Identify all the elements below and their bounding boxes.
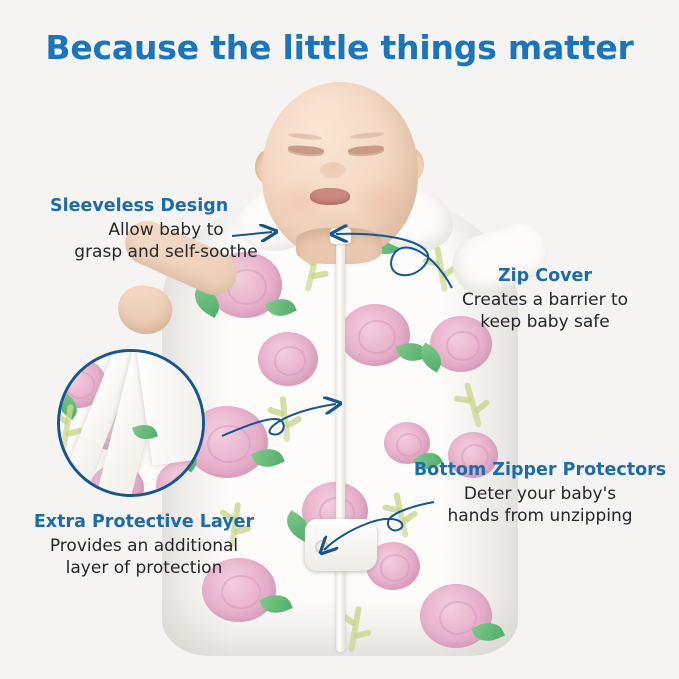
rose-motif	[258, 332, 318, 386]
annotation-bottom-zipper-line2: hands from unzipping	[404, 506, 676, 526]
annotation-bottom-zipper-line1: Deter your baby's	[404, 484, 676, 504]
annotation-bottom-zipper-heading: Bottom Zipper Protectors	[404, 460, 676, 482]
baby-nose	[320, 162, 346, 178]
annotation-extra-layer-line2: layer of protection	[18, 558, 270, 578]
bottom-zipper-protector	[305, 519, 377, 571]
annotation-zip-cover-heading: Zip Cover	[420, 266, 670, 288]
annotation-sleeveless-heading: Sleeveless Design	[50, 196, 286, 218]
sprig-motif	[280, 396, 291, 442]
annotation-extra-layer-line1: Provides an additional	[18, 536, 270, 556]
annotation-zip-cover: Zip Cover Creates a barrier to keep baby…	[420, 266, 670, 332]
zip-cover-tab	[330, 228, 351, 244]
annotation-extra-protective-layer: Extra Protective Layer Provides an addit…	[18, 512, 270, 578]
fabric-fold	[136, 349, 205, 466]
extra-protective-layer-inset	[57, 349, 205, 497]
annotation-sleeveless-line1: Allow baby to	[46, 220, 286, 240]
annotation-extra-layer-heading: Extra Protective Layer	[18, 512, 270, 534]
annotation-sleeveless-line2: grasp and self-soothe	[46, 242, 286, 262]
rose-motif	[156, 460, 205, 497]
annotation-zip-cover-line1: Creates a barrier to	[420, 290, 670, 310]
annotation-sleeveless: Sleeveless Design Allow baby to grasp an…	[46, 196, 286, 262]
annotation-zip-cover-line2: keep baby safe	[420, 312, 670, 332]
page-title: Because the little things matter	[0, 28, 679, 67]
infographic-canvas: Because the little things matter Sleevel…	[0, 0, 679, 679]
front-zipper	[336, 232, 345, 652]
annotation-bottom-zipper-protectors: Bottom Zipper Protectors Deter your baby…	[404, 460, 676, 526]
baby-mouth	[310, 188, 350, 205]
